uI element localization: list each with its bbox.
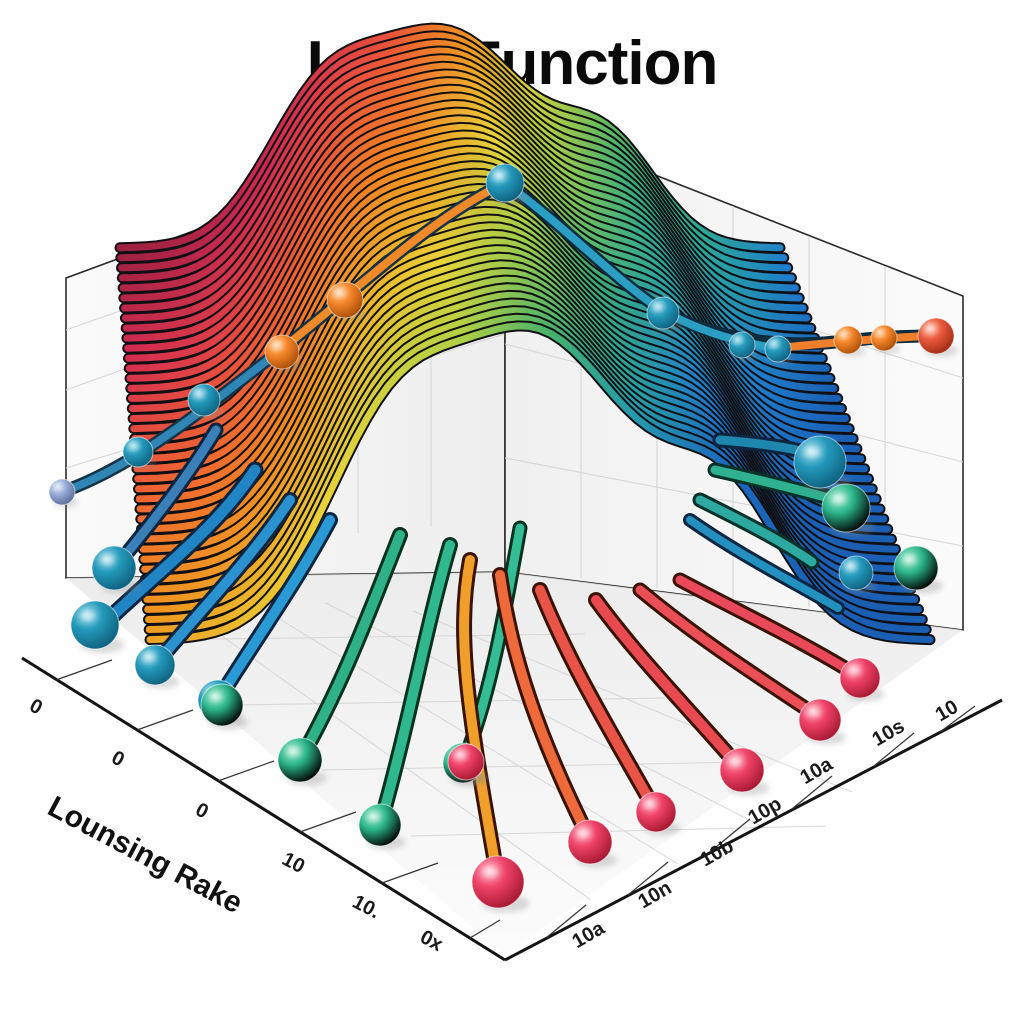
figure-canvas: Loss Function <box>0 0 1024 1024</box>
